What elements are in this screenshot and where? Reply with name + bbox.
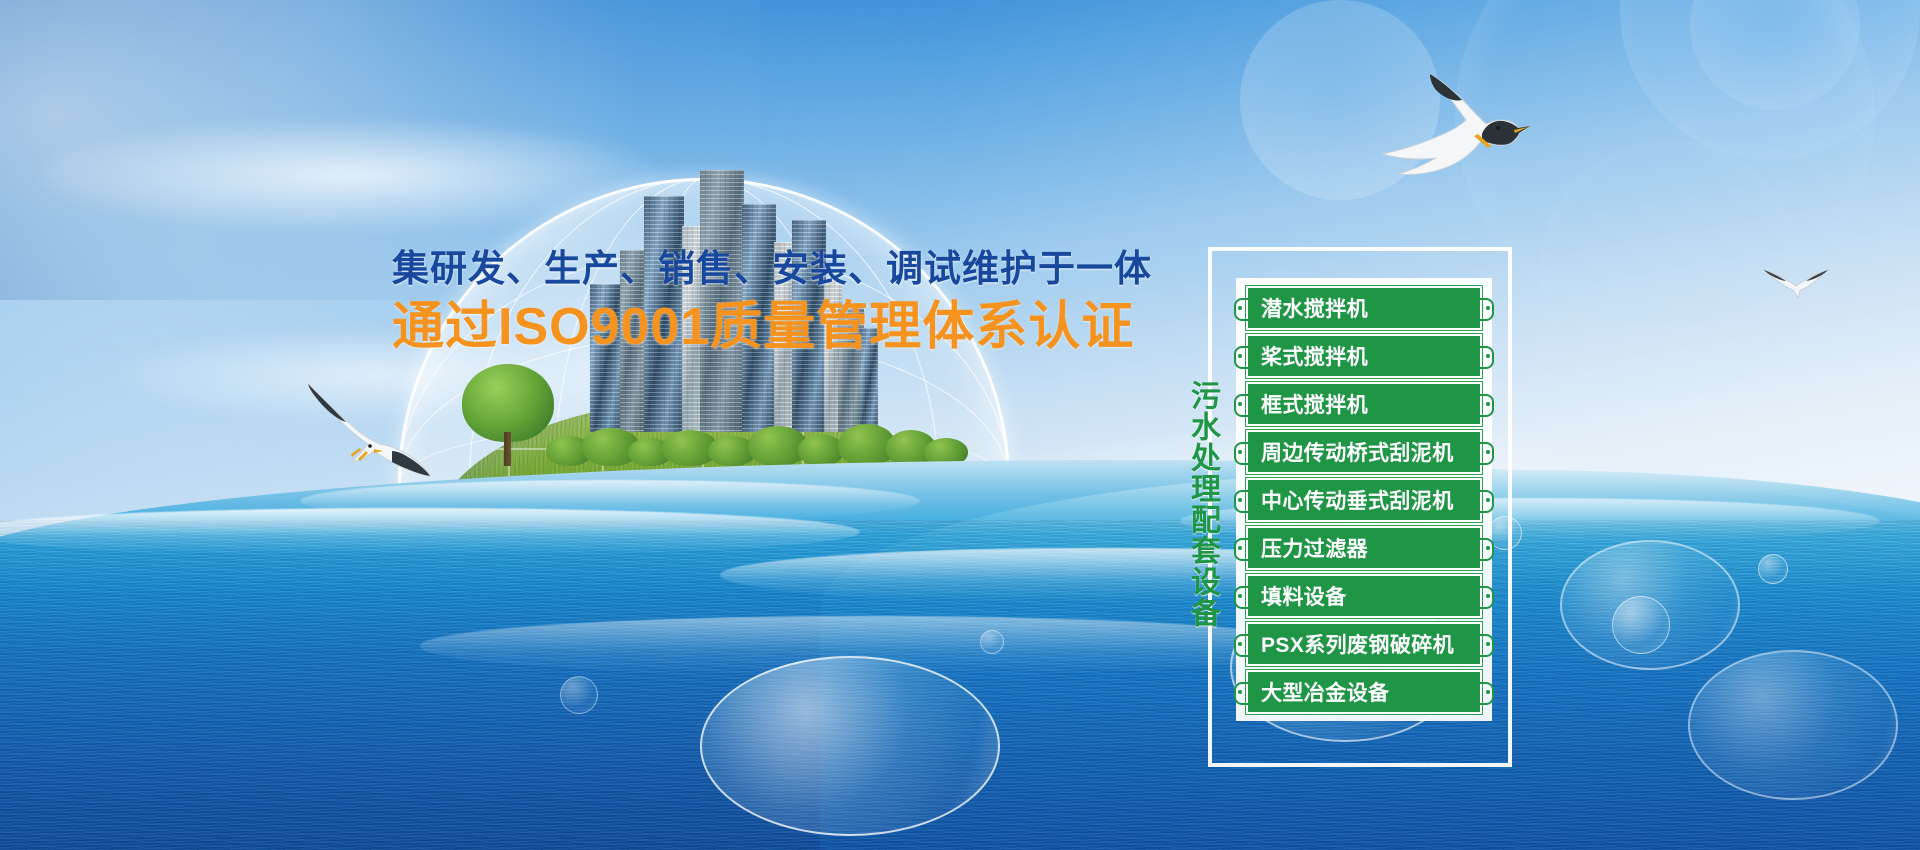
globe-grid-line xyxy=(602,400,604,740)
product-list-item[interactable]: PSX系列废钢破碎机 xyxy=(1246,622,1482,666)
product-list-item-label: 压力过滤器 xyxy=(1261,533,1368,563)
globe-grid-line xyxy=(430,448,976,450)
product-list-item-label: 中心传动垂式刮泥机 xyxy=(1261,485,1454,515)
connector-dot-icon xyxy=(1486,354,1490,358)
globe-grid-line xyxy=(430,636,976,638)
product-list-item-label: 周边传动桥式刮泥机 xyxy=(1261,437,1454,467)
connector-dot-icon xyxy=(1486,642,1490,646)
globe-grid-line xyxy=(508,400,510,740)
water-splash xyxy=(1688,650,1898,800)
globe-grid-line xyxy=(702,400,704,740)
connector-dot-icon xyxy=(1486,594,1490,598)
lens-flare-circle xyxy=(1690,0,1860,110)
product-list-item[interactable]: 桨式搅拌机 xyxy=(1246,334,1482,378)
globe-grid-line xyxy=(430,540,976,542)
connector-dot-icon xyxy=(1486,690,1490,694)
connector-dot-icon xyxy=(1486,402,1490,406)
connector-dot-icon xyxy=(1238,354,1242,358)
product-panel-vertical-label: 污水处理配套设备 xyxy=(1176,380,1218,628)
connector-dot-icon xyxy=(1238,594,1242,598)
product-list-item-label: 填料设备 xyxy=(1261,581,1347,611)
connector-dot-icon xyxy=(1486,498,1490,502)
globe-grid-line xyxy=(896,400,898,740)
headline-secondary: 通过ISO9001质量管理体系认证 xyxy=(392,298,1172,358)
water-bubble xyxy=(1758,554,1788,584)
connector-dot-icon xyxy=(1238,498,1242,502)
product-list-item[interactable]: 中心传动垂式刮泥机 xyxy=(1246,478,1482,522)
connector-dot-icon xyxy=(1238,402,1242,406)
product-list-item[interactable]: 周边传动桥式刮泥机 xyxy=(1246,430,1482,474)
connector-dot-icon xyxy=(1238,642,1242,646)
connector-dot-icon xyxy=(1238,450,1242,454)
lens-flare-circle xyxy=(1540,140,1800,400)
lens-flare-circle xyxy=(1455,0,1875,325)
product-list-item[interactable]: 大型冶金设备 xyxy=(1246,670,1482,714)
product-list-item-label: 桨式搅拌机 xyxy=(1261,341,1368,371)
seagull-icon xyxy=(1762,258,1836,304)
water-splash xyxy=(1560,540,1740,670)
product-list-item-label: 大型冶金设备 xyxy=(1261,677,1389,707)
water-bubble xyxy=(1612,596,1670,654)
water-bubble xyxy=(980,630,1004,654)
connector-dot-icon xyxy=(1486,306,1490,310)
product-list-item-label: 潜水搅拌机 xyxy=(1261,293,1368,323)
product-list-item-label: 框式搅拌机 xyxy=(1261,389,1368,419)
connector-dot-icon xyxy=(1238,306,1242,310)
lens-flare-circle xyxy=(1620,0,1920,160)
earth-globe xyxy=(430,400,976,740)
connector-dot-icon xyxy=(1486,450,1490,454)
product-list-item[interactable]: 框式搅拌机 xyxy=(1246,382,1482,426)
connector-dot-icon xyxy=(1486,546,1490,550)
product-list-item[interactable]: 填料设备 xyxy=(1246,574,1482,618)
headline-block: 集研发、生产、销售、安装、调试维护于一体 通过ISO9001质量管理体系认证 xyxy=(392,246,1172,358)
lens-flare-circle xyxy=(1240,0,1440,200)
globe-grid-line xyxy=(802,400,804,740)
product-list: 潜水搅拌机 桨式搅拌机 框式搅拌机 周边传动桥式刮泥机 中心传动垂式刮泥机 压力… xyxy=(1236,278,1492,721)
product-list-item-label: PSX系列废钢破碎机 xyxy=(1261,629,1454,659)
connector-dot-icon xyxy=(1238,690,1242,694)
product-list-item[interactable]: 潜水搅拌机 xyxy=(1246,286,1482,330)
product-list-item[interactable]: 压力过滤器 xyxy=(1246,526,1482,570)
seagull-icon xyxy=(1378,62,1538,192)
headline-primary: 集研发、生产、销售、安装、调试维护于一体 xyxy=(392,246,1172,292)
promo-banner: 集研发、生产、销售、安装、调试维护于一体 通过ISO9001质量管理体系认证 污… xyxy=(0,0,1920,850)
connector-dot-icon xyxy=(1238,546,1242,550)
